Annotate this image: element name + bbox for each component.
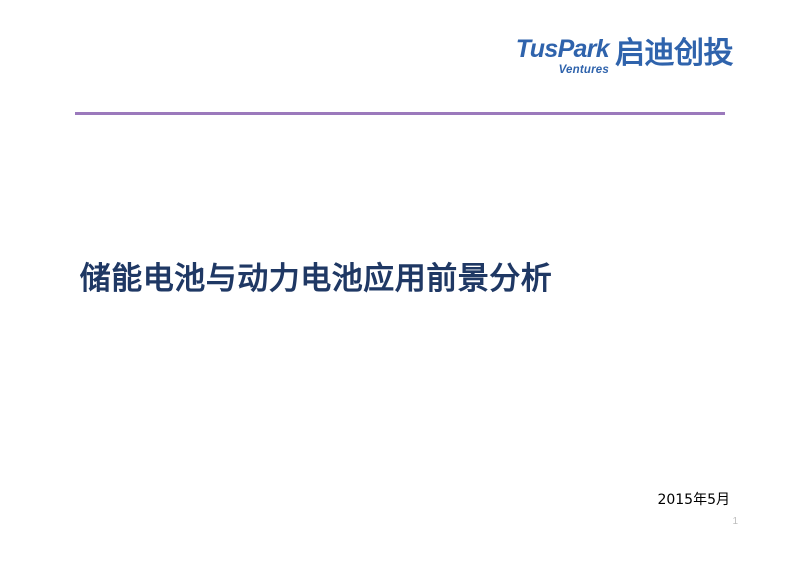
logo-wordmark-chinese: 启迪创投	[615, 36, 733, 69]
page-number: 1	[732, 516, 738, 527]
header-divider-rule	[75, 112, 725, 115]
logo-latin-lockup: TusPark Ventures	[516, 36, 609, 76]
slide-date: 2015年5月	[657, 489, 730, 509]
tuspark-ventures-logo: TusPark Ventures 启迪创投	[531, 36, 733, 78]
presentation-slide: TusPark Ventures 启迪创投 储能电池与动力电池应用前景分析 20…	[0, 0, 800, 566]
logo-wordmark-ventures: Ventures	[559, 64, 609, 76]
page-title: 储能电池与动力电池应用前景分析	[0, 262, 800, 298]
logo-wordmark-tuspark: TusPark	[516, 37, 609, 63]
